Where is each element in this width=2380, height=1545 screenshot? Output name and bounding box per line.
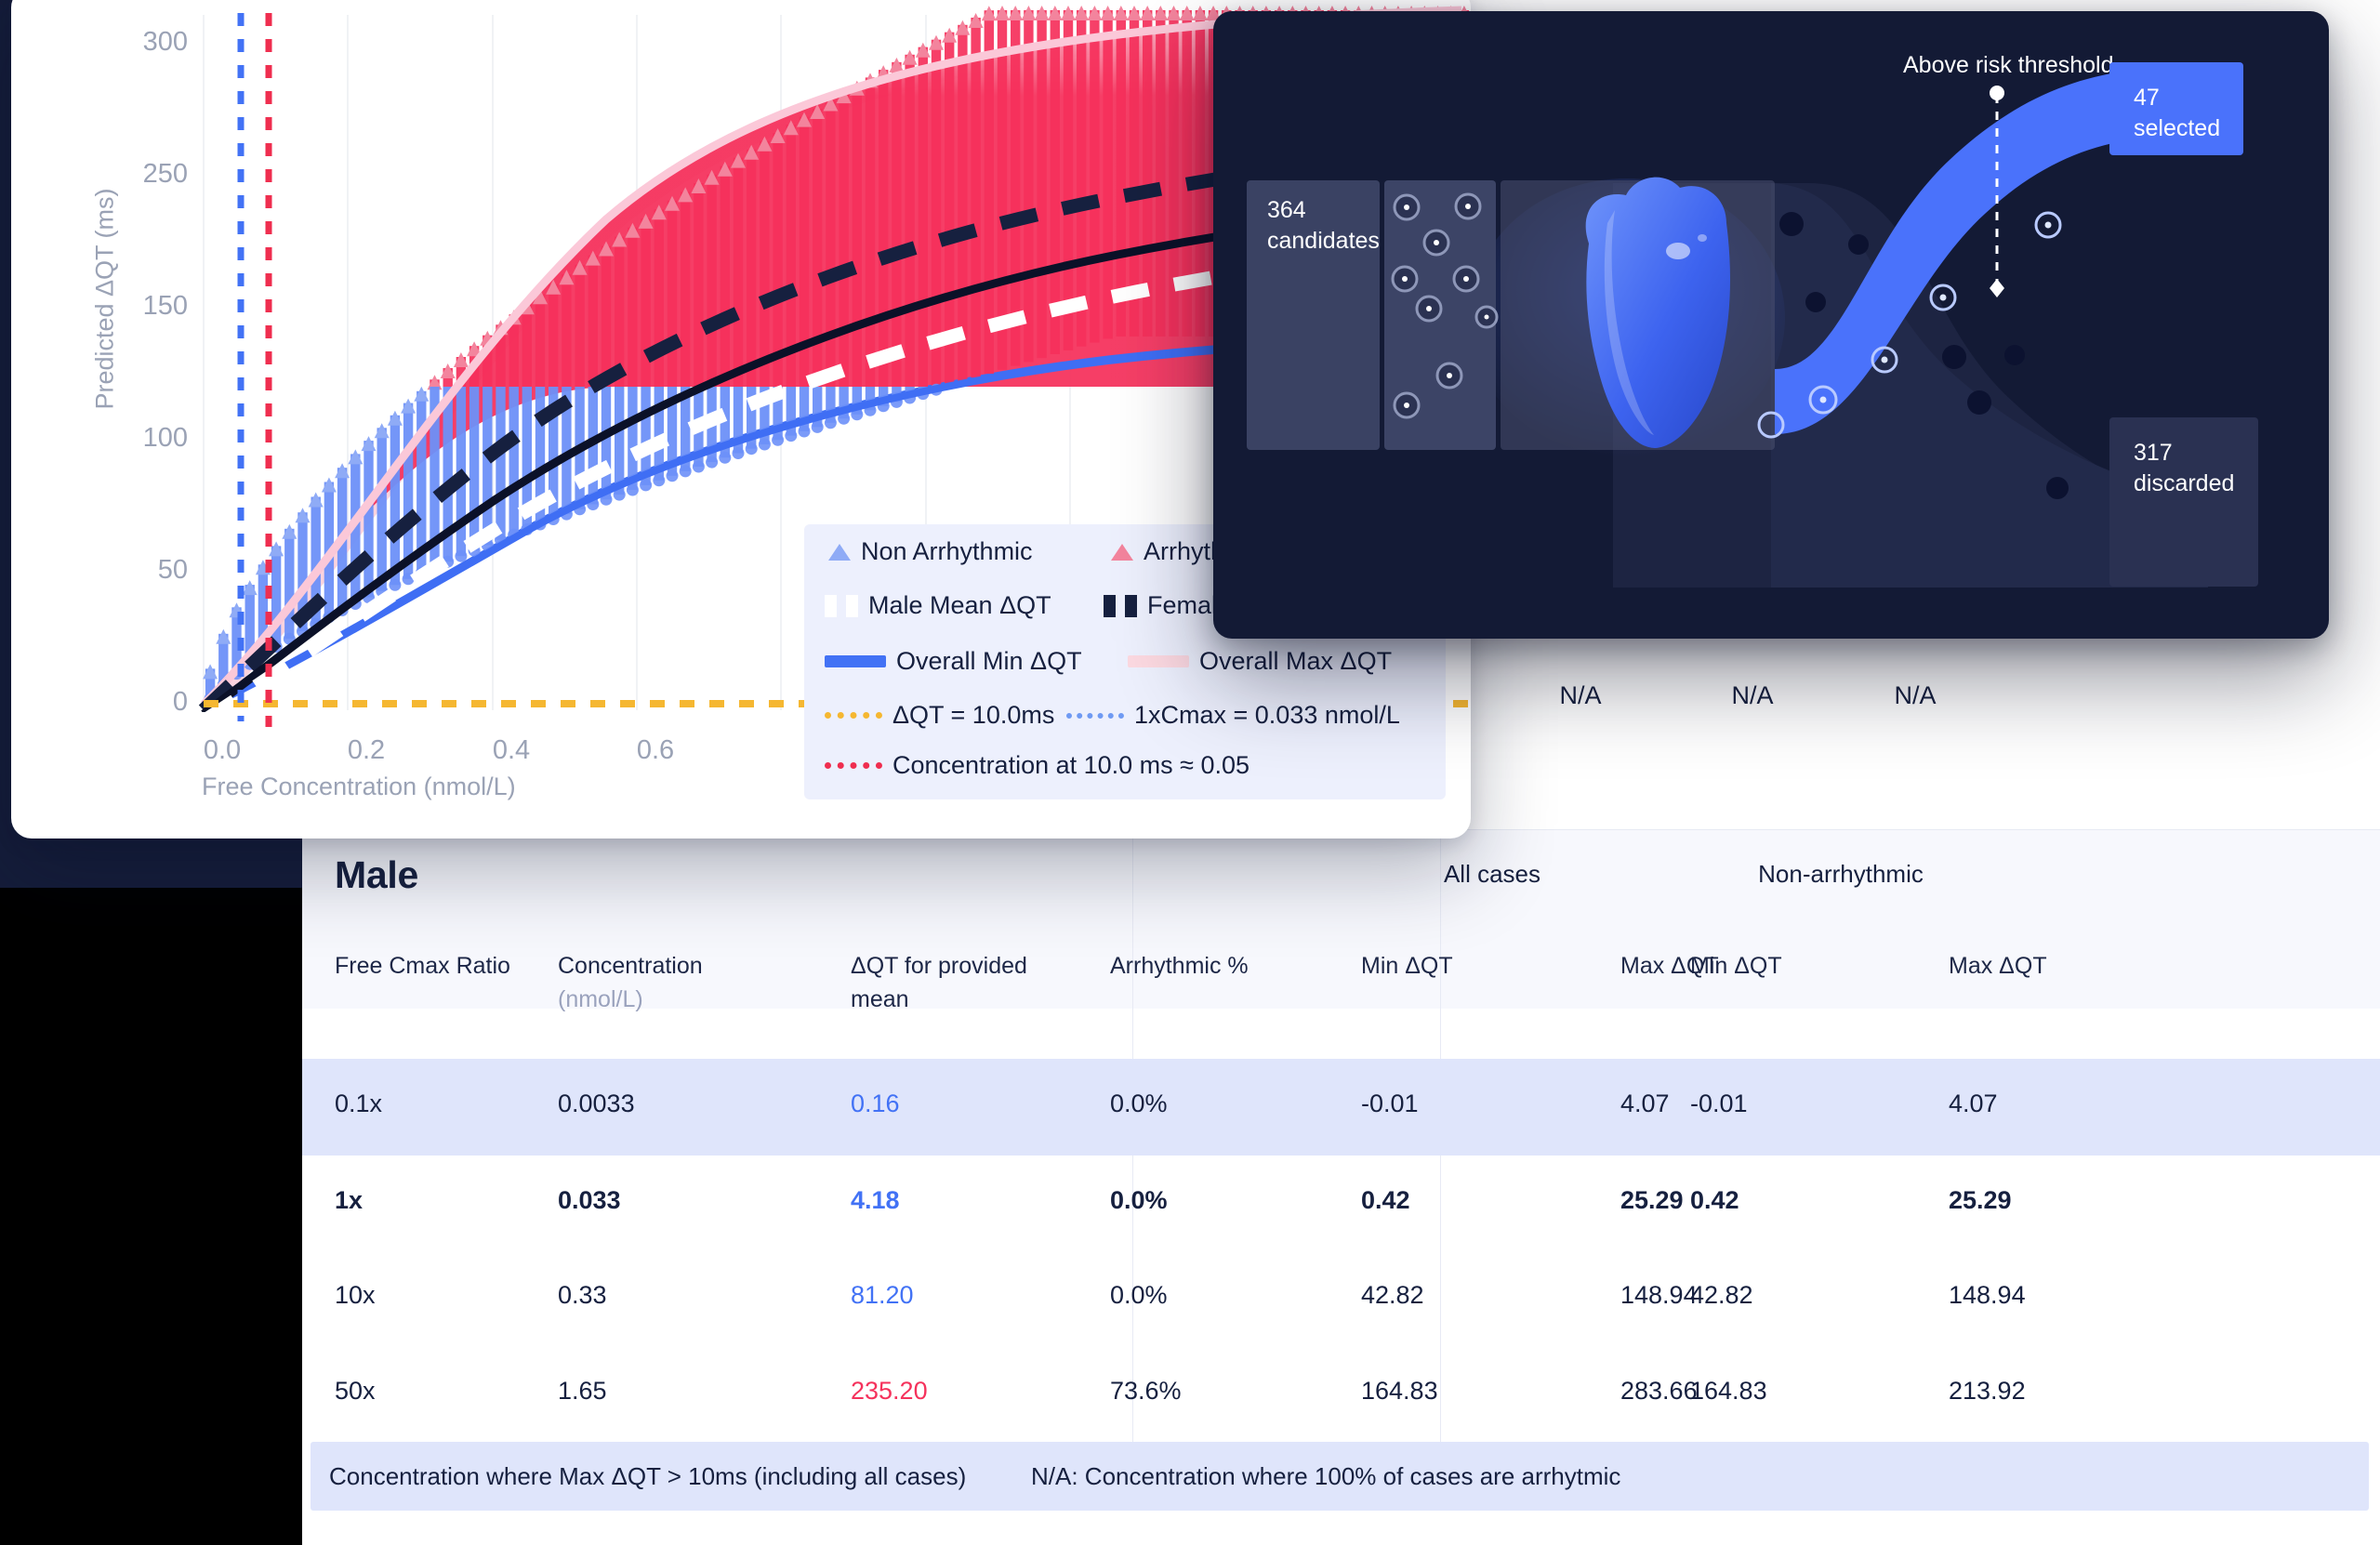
cell-concentration: 0.0033 [558,1089,635,1118]
cell-dqt: 4.18 [851,1186,900,1215]
cell-concentration: 0.033 [558,1186,621,1215]
cell-dqt: 235.20 [851,1377,928,1406]
discarded-badge[interactable]: 317 discarded [2109,417,2258,587]
cell-all-max: 283.66 [1620,1377,1698,1406]
y-tick: 50 [95,555,188,586]
colhead-dqt-provided-mean: ΔQT for provided [851,953,1027,979]
x-axis-label: Free Concentration (nmol/L) [202,772,516,801]
cell-ratio: 50x [335,1377,376,1406]
cell-all-min: 42.82 [1361,1281,1424,1310]
yellow-dotted-line-icon [825,712,882,719]
dashed-black-swatch-icon [1104,595,1137,617]
table-row[interactable]: 10x 0.33 81.20 0.0% 42.82 148.94 42.82 1… [302,1250,2380,1347]
cell-non-min: 164.83 [1690,1377,1767,1406]
legend-label: ΔQT = 10.0ms [892,701,1054,730]
legend-item-dqt-threshold[interactable]: ΔQT = 10.0ms [825,701,1054,730]
colhead-all-min-dqt: Min ΔQT [1361,950,1453,984]
cell-non-max: 25.29 [1949,1186,2012,1215]
y-tick: 250 [95,159,188,190]
cell-non-min: -0.01 [1690,1089,1748,1118]
y-tick: 300 [95,27,188,58]
colhead-concentration: Concentration [558,953,703,979]
cell-arrhythmic: 0.0% [1110,1186,1168,1215]
risk-threshold-bottom-handle [1990,279,2004,297]
pink-bar-swatch-icon [1128,655,1189,667]
table-row[interactable]: 50x 1.65 235.20 73.6% 164.83 283.66 164.… [302,1346,2380,1443]
cell-non-min: 42.82 [1690,1281,1753,1310]
screenshot-stage: N/A N/A N/A N/A Male All cases Non-arrhy… [0,0,2380,1545]
footnote-max-dqt: Concentration where Max ΔQT > 10ms (incl… [329,1462,966,1491]
cell-arrhythmic: 0.0% [1110,1281,1168,1310]
y-tick: 150 [95,291,188,322]
cell-all-min: 0.42 [1361,1186,1410,1215]
red-dotted-line-icon [825,762,882,769]
cell-all-max: 4.07 [1620,1089,1670,1118]
triangle-up-icon [1111,544,1133,561]
group-header-all-cases: All cases [1334,860,1650,889]
table-row[interactable]: 1x 0.033 4.18 0.0% 0.42 25.29 0.42 25.29 [302,1155,2380,1252]
candidates-text: candidates [1267,228,1380,254]
y-tick: 0 [95,687,188,718]
table-row[interactable]: 0.1x 0.0033 0.16 0.0% -0.01 4.07 -0.01 4… [302,1059,2380,1155]
cell-concentration: 1.65 [558,1377,607,1406]
y-axis-ticks: 300 250 150 100 50 0 [95,0,188,839]
x-tick: 0.2 [348,735,385,766]
y-tick: 100 [95,423,188,454]
group-title-male: Male [335,853,418,897]
cell-all-max: 148.94 [1620,1281,1698,1310]
x-tick: 0.4 [493,735,530,766]
colhead-non-max-dqt: Max ΔQT [1949,950,2047,984]
table-footnote-bar: Concentration where Max ΔQT > 10ms (incl… [311,1442,2369,1511]
legend-label: Male Mean ΔQT [868,591,1051,620]
risk-threshold-label: Above risk threshold [1903,52,2114,79]
legend-label: Overall Max ΔQT [1199,647,1392,676]
cell-non-max: 4.07 [1949,1089,1998,1118]
group-header-non-arrhythmic: Non-arrhythmic [1641,860,2041,889]
candidates-count: 364 [1267,197,1306,223]
legend-label: 1xCmax = 0.033 nmol/L [1134,701,1400,730]
cell-non-max-na: N/A [1831,681,1999,710]
cell-concentration: 0.33 [558,1281,607,1310]
x-tick: 0.0 [204,735,241,766]
cell-all-min: 164.83 [1361,1377,1438,1406]
legend-item-male-mean[interactable]: Male Mean ΔQT [825,591,1051,620]
cell-non-max: 213.92 [1949,1377,2026,1406]
colhead-arrhythmic-pct: Arrhythmic % [1110,950,1249,984]
blue-dotted-line-icon [1066,713,1124,719]
cell-all-max: 25.29 [1620,1186,1684,1215]
cell-dqt: 81.20 [851,1281,914,1310]
legend-label: Overall Min ΔQT [896,647,1082,676]
cell-ratio: 1x [335,1186,363,1215]
x-tick: 0.6 [637,735,674,766]
colhead-free-cmax-ratio: Free Cmax Ratio [335,950,510,984]
footnote-na-meaning: N/A: Concentration where 100% of cases a… [1031,1462,1620,1491]
legend-label: Concentration at 10.0 ms ≈ 0.05 [892,751,1249,780]
colhead-non-min-dqt: Min ΔQT [1690,950,1782,984]
cell-arrhythmic: 73.6% [1110,1377,1182,1406]
colhead-concentration-unit: (nmol/L) [558,984,703,1017]
cell-ratio: 10x [335,1281,376,1310]
legend-item-conc-at-threshold[interactable]: Concentration at 10.0 ms ≈ 0.05 [825,751,1249,780]
legend-item-overall-min[interactable]: Overall Min ΔQT [825,647,1082,676]
blue-bar-swatch-icon [825,655,886,667]
cell-dqt: 0.16 [851,1089,900,1118]
legend-item-overall-max[interactable]: Overall Max ΔQT [1128,647,1392,676]
selected-count: 47 [2134,85,2160,111]
cell-non-min: 0.42 [1690,1186,1739,1215]
discarded-count: 317 [2134,440,2173,466]
selected-text: selected [2134,115,2220,141]
candidate-funnel-card: Above risk threshold 364 candidates 47 s… [1213,11,2329,639]
cell-all-max-na: N/A [1497,681,1664,710]
selected-badge[interactable]: 47 selected [2109,62,2243,155]
colhead-dqt-provided-mean-2: mean [851,984,1027,1017]
cell-ratio: 0.1x [335,1089,382,1118]
cell-all-min: -0.01 [1361,1089,1419,1118]
legend-item-non-arrhythmic[interactable]: Non Arrhythmic [828,537,1033,566]
cell-arrhythmic: 0.0% [1110,1089,1168,1118]
dashed-white-swatch-icon [825,595,858,617]
discarded-text: discarded [2134,470,2234,496]
legend-item-cmax[interactable]: 1xCmax = 0.033 nmol/L [1066,701,1400,730]
cell-non-min-na: N/A [1669,681,1836,710]
candidates-count-label: 364 candidates [1267,195,1380,256]
risk-threshold-top-handle [1990,86,2004,100]
legend-label: Non Arrhythmic [861,537,1033,566]
cell-non-max: 148.94 [1949,1281,2026,1310]
triangle-up-icon [828,544,851,561]
